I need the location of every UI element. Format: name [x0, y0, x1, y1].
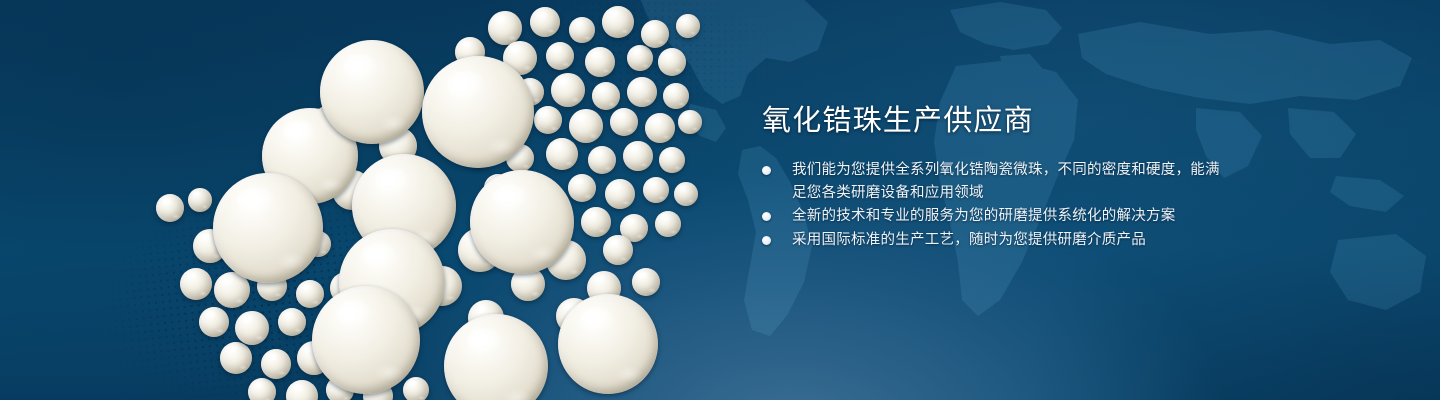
ceramic-bead — [546, 42, 574, 70]
hero-banner: 氧化锆珠生产供应商 我们能为您提供全系列氧化锆陶瓷微珠，不同的密度和硬度，能满足… — [0, 0, 1440, 400]
ceramic-bead — [546, 138, 578, 170]
ceramic-bead — [261, 349, 291, 379]
ceramic-bead — [534, 106, 562, 134]
ceramic-bead — [569, 109, 603, 143]
ceramic-bead — [286, 380, 318, 400]
ceramic-bead — [659, 147, 685, 173]
ceramic-bead — [248, 378, 276, 400]
ceramic-bead — [655, 211, 681, 237]
list-item-label: 采用国际标准的生产工艺，随时为您提供研磨介质产品 — [792, 232, 1146, 248]
ceramic-bead — [623, 141, 653, 171]
ceramic-bead — [632, 268, 660, 296]
ceramic-bead — [220, 342, 252, 374]
zirconia-beads-image — [0, 0, 720, 400]
page-title: 氧化锆珠生产供应商 — [762, 104, 1222, 138]
ceramic-bead — [569, 17, 595, 43]
ceramic-bead — [678, 110, 702, 134]
ceramic-bead — [320, 40, 424, 144]
filled-circle-bullet-icon — [762, 166, 771, 175]
ceramic-bead — [627, 45, 653, 71]
ceramic-bead — [603, 235, 633, 265]
ceramic-bead — [558, 294, 658, 394]
ceramic-bead — [676, 14, 700, 38]
ceramic-bead — [296, 280, 324, 308]
ceramic-bead — [235, 311, 269, 345]
ceramic-bead — [645, 113, 675, 143]
ceramic-bead — [530, 7, 560, 37]
list-item: 采用国际标准的生产工艺，随时为您提供研磨介质产品 — [762, 229, 1222, 252]
feature-list: 我们能为您提供全系列氧化锆陶瓷微珠，不同的密度和硬度，能满足您各类研磨设备和应用… — [762, 159, 1222, 251]
ceramic-bead — [588, 146, 616, 174]
ceramic-bead — [663, 83, 689, 109]
filled-circle-bullet-icon — [762, 212, 771, 221]
ceramic-bead — [643, 177, 669, 203]
ceramic-bead — [180, 268, 212, 300]
ceramic-bead — [278, 308, 306, 336]
ceramic-bead — [568, 174, 596, 202]
ceramic-bead — [605, 179, 635, 209]
ceramic-bead — [213, 173, 323, 283]
ceramic-bead — [592, 82, 620, 110]
list-item-label: 我们能为您提供全系列氧化锆陶瓷微珠，不同的密度和硬度，能满足您各类研磨设备和应用… — [792, 162, 1220, 201]
ceramic-bead — [199, 307, 229, 337]
ceramic-bead — [674, 182, 698, 206]
list-item: 我们能为您提供全系列氧化锆陶瓷微珠，不同的密度和硬度，能满足您各类研磨设备和应用… — [762, 159, 1222, 204]
ceramic-bead — [312, 286, 420, 394]
ceramic-bead — [444, 314, 548, 400]
ceramic-bead — [403, 377, 429, 400]
ceramic-bead — [658, 48, 686, 76]
ceramic-bead — [156, 194, 184, 222]
ceramic-bead — [641, 20, 669, 48]
ceramic-bead — [602, 6, 634, 38]
ceramic-bead — [488, 11, 522, 45]
list-item: 全新的技术和专业的服务为您的研磨提供系统化的解决方案 — [762, 205, 1222, 228]
ceramic-bead — [610, 108, 638, 136]
banner-content: 氧化锆珠生产供应商 我们能为您提供全系列氧化锆陶瓷微珠，不同的密度和硬度，能满足… — [762, 104, 1222, 252]
ceramic-bead — [627, 77, 657, 107]
list-item-label: 全新的技术和专业的服务为您的研磨提供系统化的解决方案 — [792, 208, 1176, 224]
ceramic-bead — [551, 73, 585, 107]
ceramic-bead — [188, 188, 212, 212]
ceramic-bead — [585, 47, 615, 77]
ceramic-bead — [422, 56, 534, 168]
filled-circle-bullet-icon — [762, 236, 771, 245]
ceramic-bead — [470, 170, 574, 274]
ceramic-bead — [581, 207, 611, 237]
